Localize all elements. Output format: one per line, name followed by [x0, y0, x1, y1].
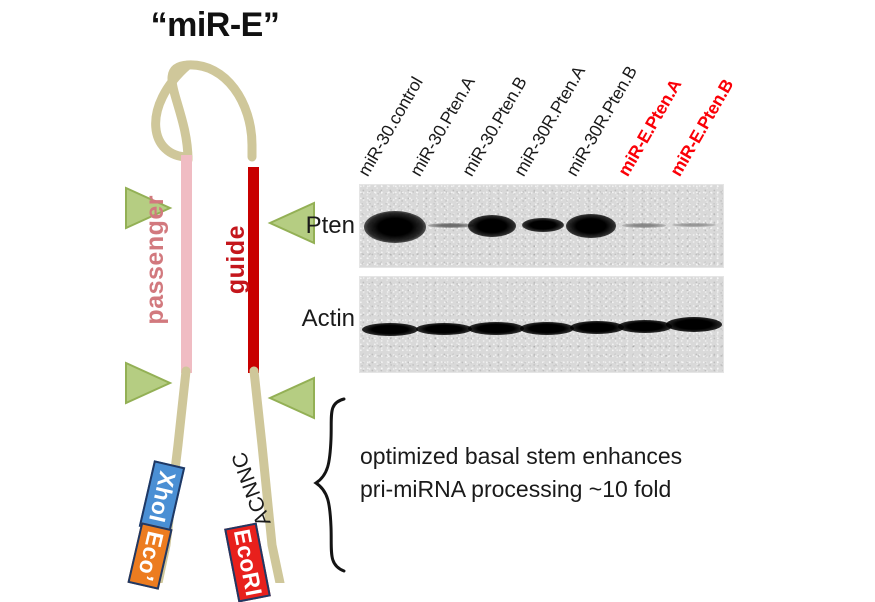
drosha-cleavage-arrowhead-lower-left [126, 363, 170, 403]
pten-band-lane-2 [428, 223, 474, 228]
blot-image-actin [360, 277, 723, 372]
lane-label-group: miR-30.control miR-30.Pten.A miR-30.Pten… [350, 0, 875, 180]
pten-band-lane-7 [672, 223, 716, 227]
actin-band-lane-7 [666, 317, 722, 332]
pten-band-lane-1 [364, 211, 426, 243]
pten-band-lane-5 [566, 214, 616, 238]
pten-band-lane-6 [622, 223, 666, 228]
guide-strand-label: guide [222, 225, 251, 294]
curly-brace [308, 395, 368, 575]
pten-band-lane-4 [522, 218, 564, 232]
caption-line-2: pri-miRNA processing ~10 fold [360, 473, 760, 506]
passenger-strand-label: passenger [141, 195, 170, 325]
caption-text: optimized basal stem enhances pri-miRNA … [360, 440, 760, 505]
blot-row-label-pten: Pten [275, 212, 355, 240]
actin-band-lane-4 [520, 322, 574, 335]
caption-line-1: optimized basal stem enhances [360, 440, 760, 473]
page-title: “miR-E” [95, 6, 335, 45]
passenger-strand [181, 155, 192, 373]
figure-root: “miR-E” passenger guide ACNNC XhoI Eco’ … [0, 0, 875, 583]
blot-film-grain-pten [360, 185, 723, 267]
blot-row-label-actin: Actin [275, 305, 355, 333]
actin-band-lane-5 [570, 321, 624, 334]
western-blot-panel: miR-30.control miR-30.Pten.A miR-30.Pten… [350, 0, 875, 583]
actin-band-lane-1 [362, 323, 418, 336]
blot-image-pten [360, 185, 723, 267]
actin-band-lane-6 [618, 320, 672, 333]
blot-film-grain-actin [360, 277, 723, 372]
pten-band-lane-3 [468, 215, 516, 237]
actin-band-lane-3 [468, 322, 524, 335]
actin-band-lane-2 [416, 323, 472, 335]
terminal-loop [172, 65, 252, 160]
